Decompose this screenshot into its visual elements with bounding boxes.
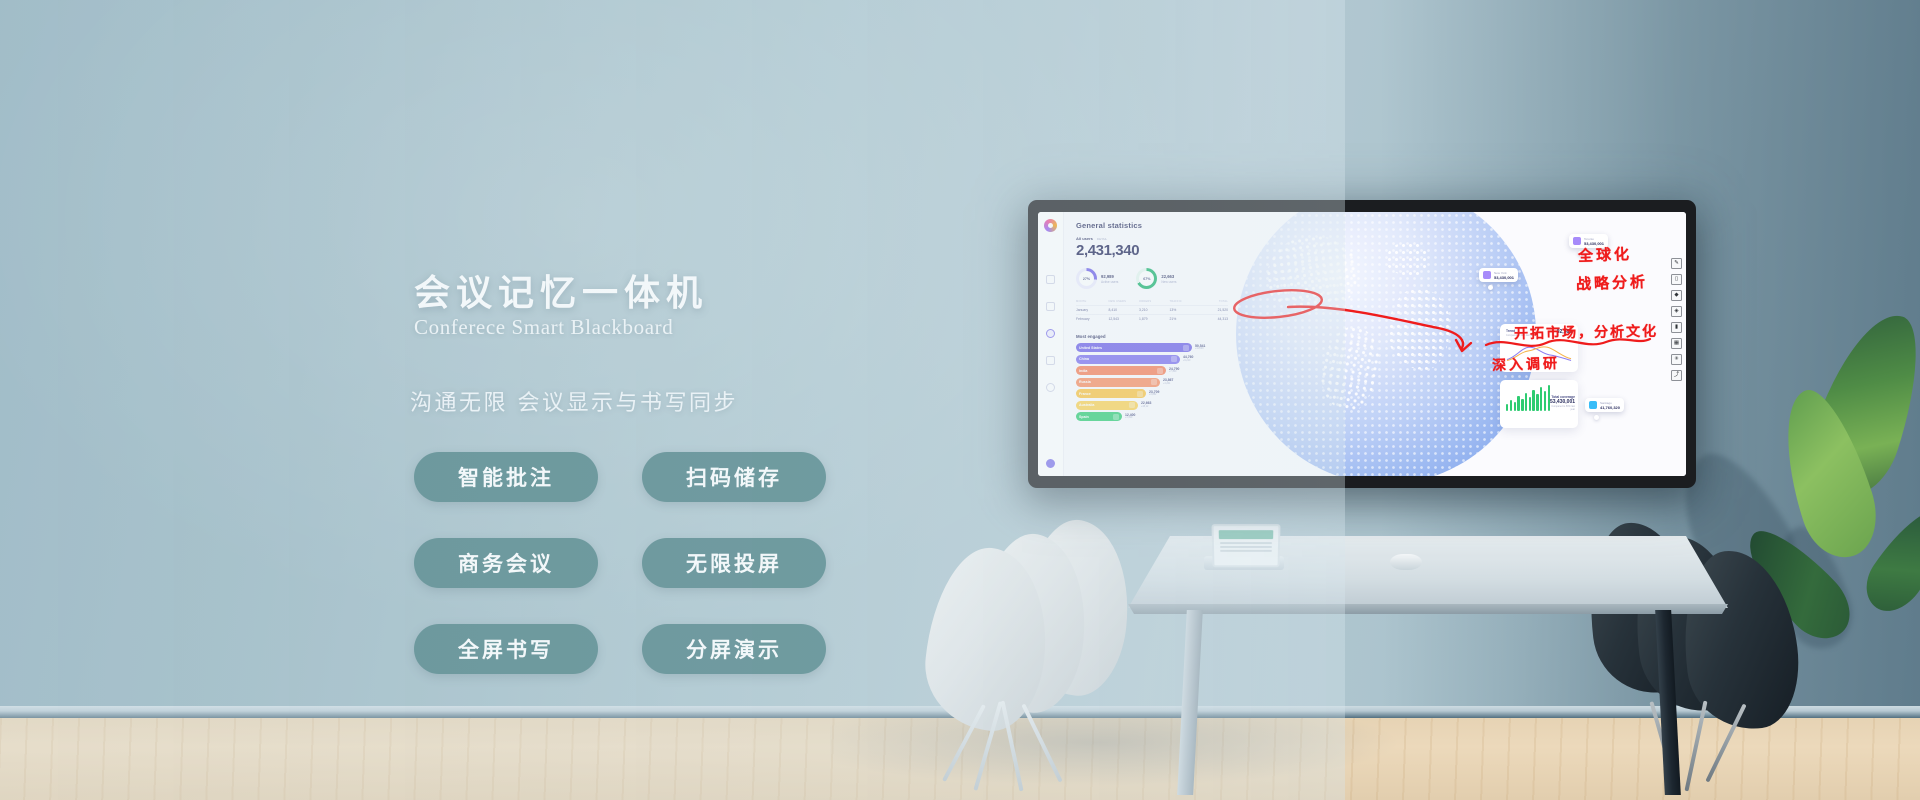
- map-pin-icon: [1573, 237, 1581, 245]
- tablet-screen-line: [1220, 546, 1272, 548]
- new-users-stat: 67% 22,663 New users: [1136, 268, 1176, 289]
- cell-new-users: 12,543: [1109, 317, 1137, 321]
- engaged-country: India: [1079, 369, 1087, 373]
- coverage-card-subtitle: Compared to 50% last year: [1550, 405, 1575, 411]
- tablet-screen-line: [1220, 550, 1272, 552]
- dashboard-sidebar[interactable]: [1038, 212, 1064, 476]
- engaged-delta: +9,210: [1183, 360, 1193, 362]
- annotation-text: 深入调研: [1492, 353, 1561, 375]
- conference-phone: [1390, 554, 1422, 570]
- page-title: 会议记忆一体机: [414, 264, 708, 316]
- engaged-country: United States: [1079, 346, 1102, 350]
- tablet-screen-bar: [1219, 530, 1274, 539]
- map-tooltip[interactable]: New York 53,430,001: [1479, 268, 1518, 282]
- annotation-text: 开拓市场，分析文化: [1514, 321, 1658, 344]
- active-users-donut: 27%: [1076, 268, 1097, 289]
- statistics-panel: General statistics All users DETAIL 2,43…: [1076, 221, 1216, 421]
- engaged-delta: +7,300: [1169, 371, 1179, 373]
- cell-traffic: 13%: [1170, 308, 1198, 312]
- engaged-bar[interactable]: India: [1076, 366, 1166, 375]
- continent-africa: [1388, 288, 1450, 370]
- metric-value: 2,431,340: [1076, 242, 1216, 259]
- tablet-screen-line: [1220, 542, 1272, 544]
- feature-button-4[interactable]: 无限投屏: [642, 538, 826, 588]
- feature-button-3[interactable]: 商务会议: [414, 538, 598, 588]
- eraser-icon[interactable]: ▯: [1671, 274, 1682, 285]
- new-users-label: New users: [1161, 280, 1176, 284]
- share-icon[interactable]: ⤴: [1671, 370, 1682, 381]
- most-engaged-list: United States50,541+11,200China44,760+9,…: [1076, 343, 1216, 421]
- grid-icon[interactable]: ▦: [1671, 338, 1682, 349]
- cell-orders: 1,879: [1139, 317, 1167, 321]
- flag-icon: [1171, 356, 1177, 362]
- engaged-bar[interactable]: China: [1076, 355, 1180, 364]
- board-screen[interactable]: New York 53,430,001 Toronto 53,430,001 L…: [1038, 212, 1686, 476]
- continent-europe: [1386, 242, 1430, 276]
- table-row: January 8,410 3,210 13% 21,520: [1076, 305, 1228, 314]
- flag-icon: [1183, 345, 1189, 351]
- cell-orders: 3,210: [1139, 308, 1167, 312]
- analytics-icon[interactable]: [1046, 329, 1055, 338]
- annotation-text: 战略分析: [1576, 271, 1649, 295]
- engaged-delta: +1,919: [1125, 417, 1135, 419]
- logo-icon: [1044, 219, 1057, 232]
- grid-icon[interactable]: [1046, 275, 1055, 284]
- engaged-row: India24,790+7,300: [1076, 366, 1216, 375]
- engaged-delta: +4,201: [1163, 383, 1173, 385]
- card-icon[interactable]: [1046, 356, 1055, 365]
- engaged-row: United States50,541+11,200: [1076, 343, 1216, 352]
- new-users-donut: 67%: [1136, 268, 1157, 289]
- engaged-meta: 23,709+3,882: [1149, 391, 1159, 397]
- cell-new-users: 8,410: [1109, 308, 1137, 312]
- floor-shadow: [830, 718, 1590, 800]
- cell-total: 21,520: [1200, 308, 1228, 312]
- engaged-bar[interactable]: Spain: [1076, 412, 1122, 421]
- page-subtitle: Conferece Smart Blackboard: [414, 315, 673, 340]
- shape-filled-icon[interactable]: ◈: [1671, 306, 1682, 317]
- column-header: TOTAL: [1200, 300, 1228, 303]
- cell-month: February: [1076, 317, 1106, 321]
- engaged-meta: 23,867+4,201: [1163, 379, 1173, 385]
- metric-period[interactable]: DETAIL: [1097, 237, 1107, 241]
- engaged-country: China: [1079, 357, 1089, 361]
- world-map-globe: [1236, 212, 1536, 476]
- column-header: ORDERS: [1139, 300, 1167, 303]
- dashboard-title: General statistics: [1076, 221, 1216, 230]
- flag-icon: [1157, 368, 1163, 374]
- engaged-row: China44,760+9,210: [1076, 355, 1216, 364]
- map-pin-icon: [1483, 271, 1491, 279]
- column-header: MONTH: [1076, 300, 1106, 303]
- flag-icon: [1113, 414, 1119, 420]
- active-users-stat: 27% 92,989 Active users: [1076, 268, 1118, 289]
- engaged-meta: 50,541+11,200: [1195, 345, 1205, 351]
- smart-blackboard[interactable]: New York 53,430,001 Toronto 53,430,001 L…: [1028, 200, 1696, 488]
- column-header: TRAFFIC: [1170, 300, 1198, 303]
- hero-banner: New York 53,430,001 Toronto 53,430,001 L…: [0, 0, 1920, 800]
- map-tooltip[interactable]: Santiago 41,760,320: [1585, 398, 1624, 412]
- engaged-bar[interactable]: France: [1076, 389, 1146, 398]
- active-users-percent: 27%: [1079, 271, 1094, 286]
- engaged-meta: 44,760+9,210: [1183, 356, 1193, 362]
- engaged-meta: 12,400+1,919: [1125, 414, 1135, 420]
- coverage-card[interactable]: Total coverage 53,430,001 Compared to 50…: [1500, 380, 1578, 428]
- most-engaged-title: Most engaged: [1076, 334, 1216, 339]
- stats-table: MONTH NEW USERS ORDERS TRAFFIC TOTAL Jan…: [1076, 298, 1228, 323]
- engaged-row: Australia22,663+48,12: [1076, 401, 1216, 410]
- engaged-country: France: [1079, 392, 1091, 396]
- hero-tagline: 沟通无限 会议显示与书写同步: [410, 385, 738, 417]
- engaged-meta: 22,663+48,12: [1141, 402, 1151, 408]
- settings-icon[interactable]: ✳: [1671, 354, 1682, 365]
- engaged-country: Australia: [1079, 403, 1094, 407]
- table-header-row: MONTH NEW USERS ORDERS TRAFFIC TOTAL: [1076, 298, 1228, 305]
- map-pin-icon: [1589, 401, 1597, 409]
- flag-icon: [1137, 391, 1143, 397]
- cell-total: 44,313: [1200, 317, 1228, 321]
- pen-icon[interactable]: ✎: [1671, 258, 1682, 269]
- engaged-delta: +11,200: [1195, 348, 1205, 350]
- engaged-country: Spain: [1079, 415, 1089, 419]
- engaged-row: France23,709+3,882: [1076, 389, 1216, 398]
- metric-label: All users: [1076, 236, 1093, 241]
- table-edge: [1128, 604, 1728, 614]
- engaged-row: Russia23,867+4,201: [1076, 378, 1216, 387]
- annotation-text: 全球化: [1578, 243, 1633, 266]
- avatar[interactable]: [1046, 459, 1055, 468]
- flag-icon: [1129, 402, 1135, 408]
- hero-copy: 会议记忆一体机 Conferece Smart Blackboard 沟通无限 …: [0, 0, 860, 800]
- engaged-delta: +3,882: [1149, 394, 1159, 396]
- active-users-label: Active users: [1101, 280, 1118, 284]
- engaged-meta: 24,790+7,300: [1169, 368, 1179, 374]
- map-tooltip-value: 53,430,001: [1494, 275, 1514, 280]
- lock-icon[interactable]: ▮: [1671, 322, 1682, 333]
- new-users-percent: 67%: [1139, 271, 1154, 286]
- engaged-country: Russia: [1079, 380, 1091, 384]
- engaged-delta: +48,12: [1141, 406, 1151, 408]
- engaged-bar[interactable]: Russia: [1076, 378, 1160, 387]
- new-users-value: 22,663: [1161, 274, 1176, 279]
- cell-month: January: [1076, 308, 1106, 312]
- feature-button-2[interactable]: 扫码储存: [642, 452, 826, 502]
- coverage-bar-chart: [1506, 385, 1550, 411]
- active-users-value: 92,989: [1101, 274, 1118, 279]
- tablet: [1211, 524, 1280, 567]
- shape-icon[interactable]: ◆: [1671, 290, 1682, 301]
- column-header: NEW USERS: [1109, 300, 1137, 303]
- feature-button-grid: 智能批注扫码储存商务会议无限投屏全屏书写分屏演示: [414, 452, 826, 674]
- feature-button-1[interactable]: 智能批注: [414, 452, 598, 502]
- board-toolbar[interactable]: ✎ ▯ ◆ ◈ ▮ ▦ ✳ ⤴: [1671, 258, 1682, 381]
- feature-button-5[interactable]: 全屏书写: [414, 624, 598, 674]
- layers-icon[interactable]: [1046, 302, 1055, 311]
- flag-icon: [1151, 379, 1157, 385]
- table-row: February 12,543 1,879 21% 44,313: [1076, 314, 1228, 323]
- cell-traffic: 21%: [1170, 317, 1198, 321]
- engaged-bar[interactable]: United States: [1076, 343, 1192, 352]
- engaged-bar[interactable]: Australia: [1076, 401, 1138, 410]
- gear-icon[interactable]: [1046, 383, 1055, 392]
- map-tooltip-value: 41,760,320: [1600, 405, 1620, 410]
- engaged-row: Spain12,400+1,919: [1076, 412, 1216, 421]
- feature-button-6[interactable]: 分屏演示: [642, 624, 826, 674]
